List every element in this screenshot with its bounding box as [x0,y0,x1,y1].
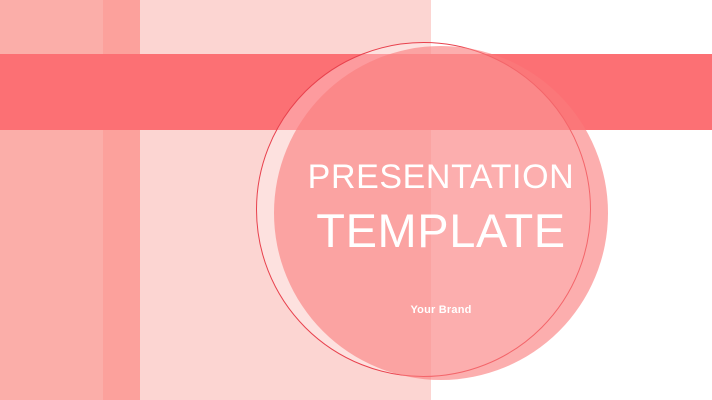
title-circle [274,46,608,380]
presentation-slide: PRESENTATION TEMPLATE Your Brand [0,0,712,400]
